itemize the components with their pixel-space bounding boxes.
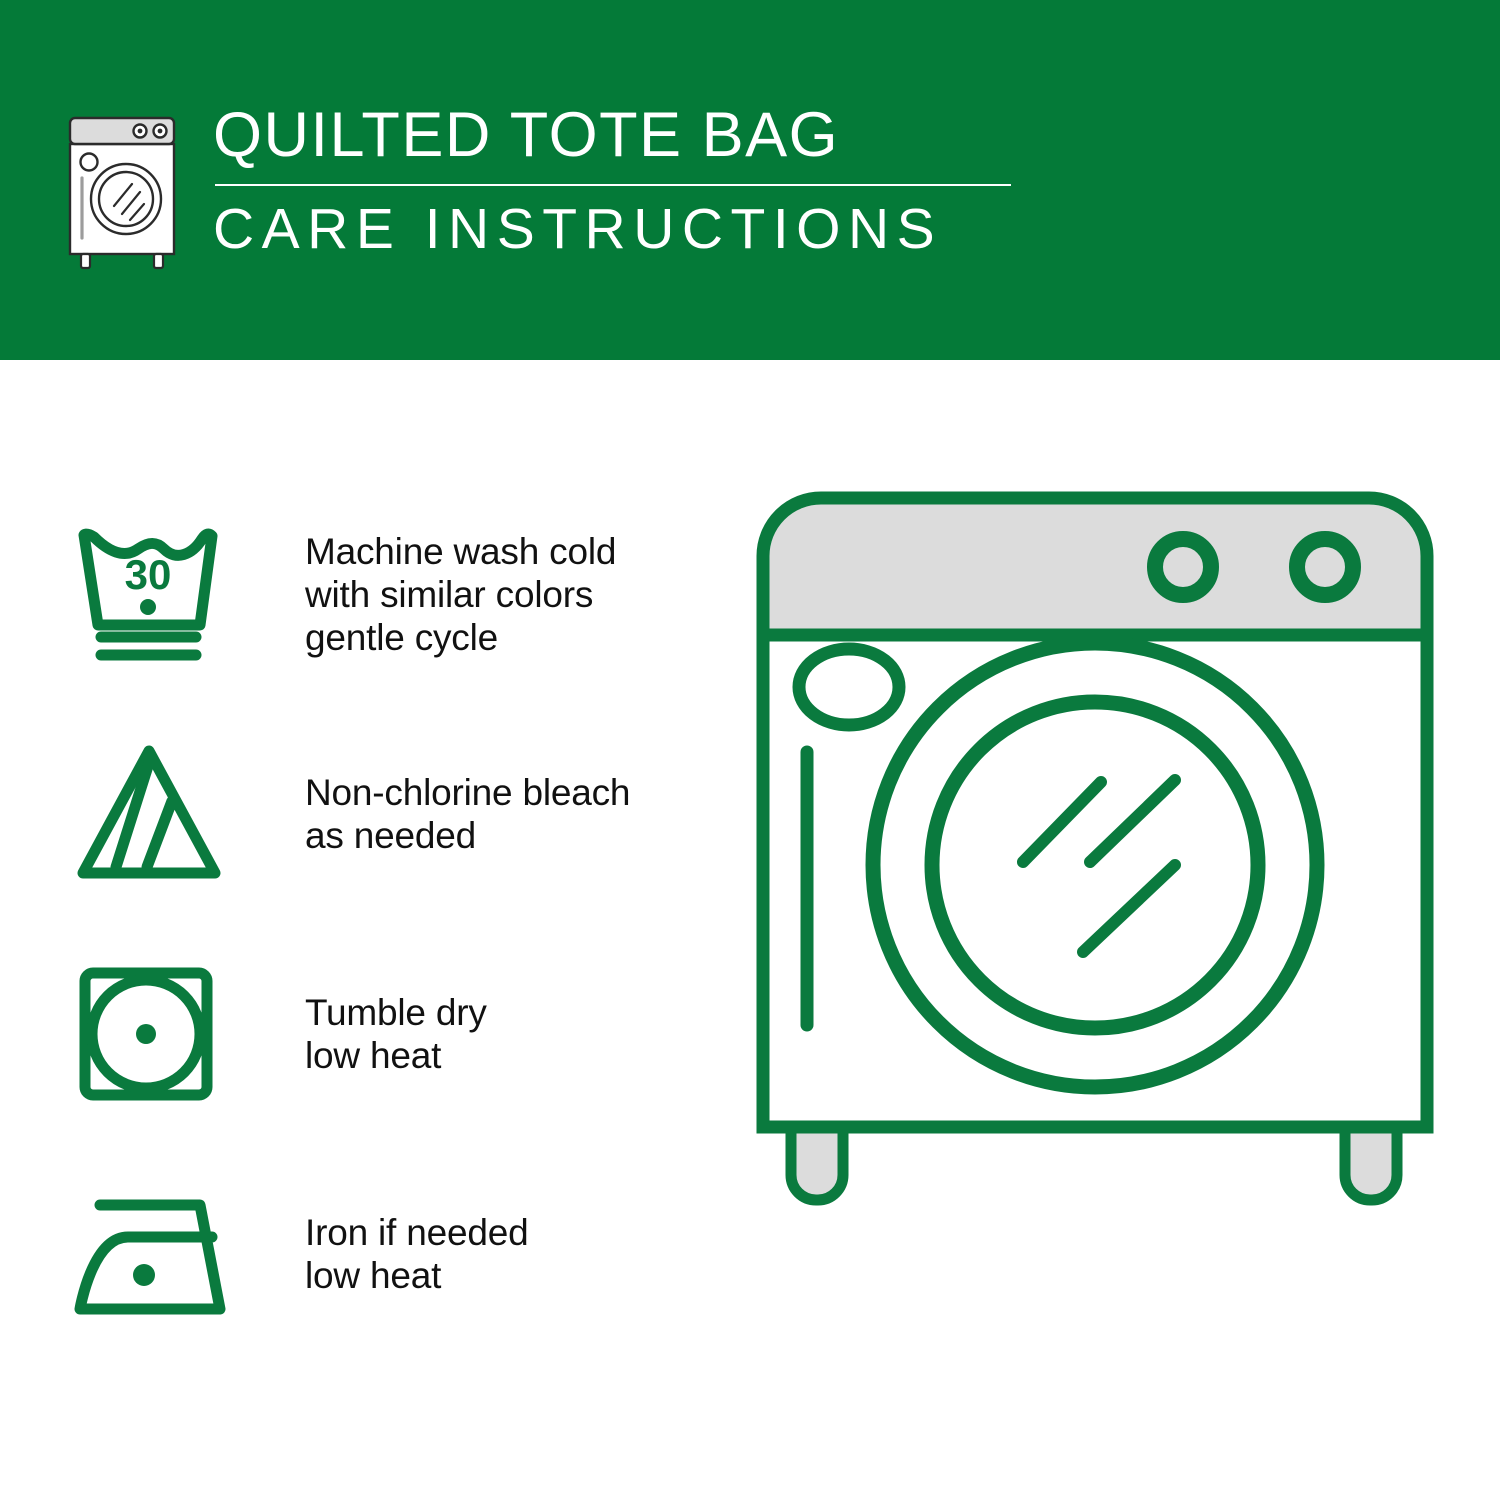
title-block: QUILTED TOTE BAG CARE INSTRUCTIONS bbox=[213, 96, 1011, 262]
header-inner: QUILTED TOTE BAG CARE INSTRUCTIONS bbox=[62, 96, 1011, 271]
care-text: Iron if needed low heat bbox=[305, 1211, 528, 1297]
page-body: 30 Machine wash cold with similar colors… bbox=[0, 360, 1500, 1500]
care-text-line: low heat bbox=[305, 1034, 487, 1077]
care-text-line: with similar colors bbox=[305, 573, 616, 616]
care-symbol-slot bbox=[72, 1179, 247, 1329]
care-row: Iron if needed low heat bbox=[72, 1170, 712, 1338]
wash-temperature-label: 30 bbox=[125, 551, 172, 598]
page-subtitle: CARE INSTRUCTIONS bbox=[213, 196, 1011, 262]
control-knob-right[interactable] bbox=[1297, 539, 1353, 595]
care-row: 30 Machine wash cold with similar colors… bbox=[72, 510, 712, 678]
care-symbol-slot: 30 bbox=[72, 519, 247, 669]
care-text: Machine wash cold with similar colors ge… bbox=[305, 530, 616, 659]
care-symbol-slot bbox=[72, 959, 247, 1109]
care-instruction-list: 30 Machine wash cold with similar colors… bbox=[72, 510, 712, 1338]
tumble-dry-low-symbol bbox=[72, 959, 247, 1109]
washing-machine-illustration bbox=[745, 480, 1445, 1420]
care-text: Non-chlorine bleach as needed bbox=[305, 771, 630, 857]
care-text-line: Iron if needed bbox=[305, 1211, 528, 1254]
page-title: QUILTED TOTE BAG bbox=[213, 100, 1011, 170]
care-row: Tumble dry low heat bbox=[72, 950, 712, 1118]
non-chlorine-bleach-symbol bbox=[72, 739, 247, 889]
care-row: Non-chlorine bleach as needed bbox=[72, 730, 712, 898]
care-text-line: low heat bbox=[305, 1254, 528, 1297]
detergent-dispenser[interactable] bbox=[799, 649, 899, 725]
washing-machine-icon bbox=[62, 106, 187, 271]
control-knob-left[interactable] bbox=[1155, 539, 1211, 595]
care-symbol-slot bbox=[72, 739, 247, 889]
care-text: Tumble dry low heat bbox=[305, 991, 487, 1077]
iron-low-heat-symbol bbox=[72, 1179, 247, 1329]
page-header: QUILTED TOTE BAG CARE INSTRUCTIONS bbox=[0, 0, 1500, 360]
care-text-line: gentle cycle bbox=[305, 616, 616, 659]
washing-machine-svg bbox=[745, 480, 1445, 1420]
machine-wash-30-gentle-symbol: 30 bbox=[72, 519, 247, 669]
title-divider bbox=[215, 184, 1011, 186]
care-text-line: Machine wash cold bbox=[305, 530, 616, 573]
care-text-line: Tumble dry bbox=[305, 991, 487, 1034]
care-text-line: Non-chlorine bleach bbox=[305, 771, 630, 814]
care-text-line: as needed bbox=[305, 814, 630, 857]
